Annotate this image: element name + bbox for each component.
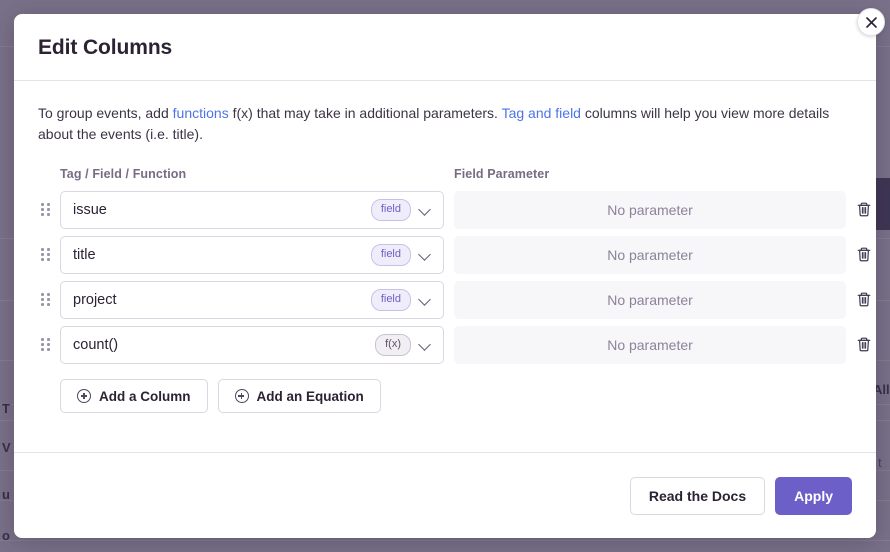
modal-body: To group events, add functions f(x) that… [14, 81, 876, 452]
field-parameter-1: No parameter [454, 236, 846, 274]
modal-description: To group events, add functions f(x) that… [38, 103, 838, 145]
header-field-parameter: Field Parameter [454, 167, 846, 181]
column-rows: issuefieldNo parametertitlefieldNo param… [38, 187, 852, 367]
page-title: Edit Columns [38, 36, 852, 60]
column-name: project [73, 292, 371, 308]
chevron-down-icon [419, 293, 432, 306]
add-a-column-label: Add a Column [99, 389, 191, 404]
field-parameter-value: No parameter [607, 247, 693, 263]
delete-row-icon[interactable] [854, 289, 874, 311]
table-row: issuefieldNo parameter [38, 187, 852, 232]
add-buttons-row: Add a Column Add an Equation [60, 379, 852, 413]
add-an-equation-button[interactable]: Add an Equation [218, 379, 381, 413]
column-headers: Tag / Field / Function Field Parameter [38, 167, 852, 181]
modal-footer: Read the Docs Apply [14, 452, 876, 538]
table-row: projectfieldNo parameter [38, 277, 852, 322]
kind-badge: f(x) [375, 334, 411, 356]
description-text-1: To group events, add [38, 105, 173, 121]
chevron-down-icon [419, 248, 432, 261]
functions-link[interactable]: functions [173, 105, 229, 121]
chevron-down-icon [419, 338, 432, 351]
modal-header: Edit Columns [14, 14, 876, 81]
drag-handle-icon[interactable] [41, 248, 50, 261]
kind-badge: field [371, 244, 411, 266]
field-parameter-value: No parameter [607, 337, 693, 353]
column-select-3[interactable]: count()f(x) [60, 326, 444, 364]
kind-badge: field [371, 199, 411, 221]
column-select-2[interactable]: projectfield [60, 281, 444, 319]
chevron-down-icon [419, 203, 432, 216]
read-the-docs-button[interactable]: Read the Docs [630, 477, 765, 515]
delete-row-icon[interactable] [854, 244, 874, 266]
plus-circle-icon [235, 389, 249, 403]
field-parameter-3: No parameter [454, 326, 846, 364]
delete-row-icon[interactable] [854, 199, 874, 221]
table-row: count()f(x)No parameter [38, 322, 852, 367]
tag-and-field-link[interactable]: Tag and field [502, 105, 581, 121]
column-select-0[interactable]: issuefield [60, 191, 444, 229]
drag-handle-icon[interactable] [41, 203, 50, 216]
field-parameter-2: No parameter [454, 281, 846, 319]
drag-handle-icon[interactable] [41, 293, 50, 306]
column-select-1[interactable]: titlefield [60, 236, 444, 274]
column-name: count() [73, 337, 375, 353]
table-row: titlefieldNo parameter [38, 232, 852, 277]
plus-circle-icon [77, 389, 91, 403]
add-an-equation-label: Add an Equation [257, 389, 364, 404]
close-icon[interactable] [857, 8, 885, 36]
delete-row-icon[interactable] [854, 334, 874, 356]
add-a-column-button[interactable]: Add a Column [60, 379, 208, 413]
kind-badge: field [371, 289, 411, 311]
description-text-2: f(x) that may take in additional paramet… [229, 105, 502, 121]
drag-handle-icon[interactable] [41, 338, 50, 351]
field-parameter-0: No parameter [454, 191, 846, 229]
column-name: title [73, 247, 371, 263]
apply-button[interactable]: Apply [775, 477, 852, 515]
header-tag-field-function: Tag / Field / Function [60, 167, 444, 181]
edit-columns-modal: Edit Columns To group events, add functi… [14, 14, 876, 538]
field-parameter-value: No parameter [607, 202, 693, 218]
column-name: issue [73, 202, 371, 218]
field-parameter-value: No parameter [607, 292, 693, 308]
